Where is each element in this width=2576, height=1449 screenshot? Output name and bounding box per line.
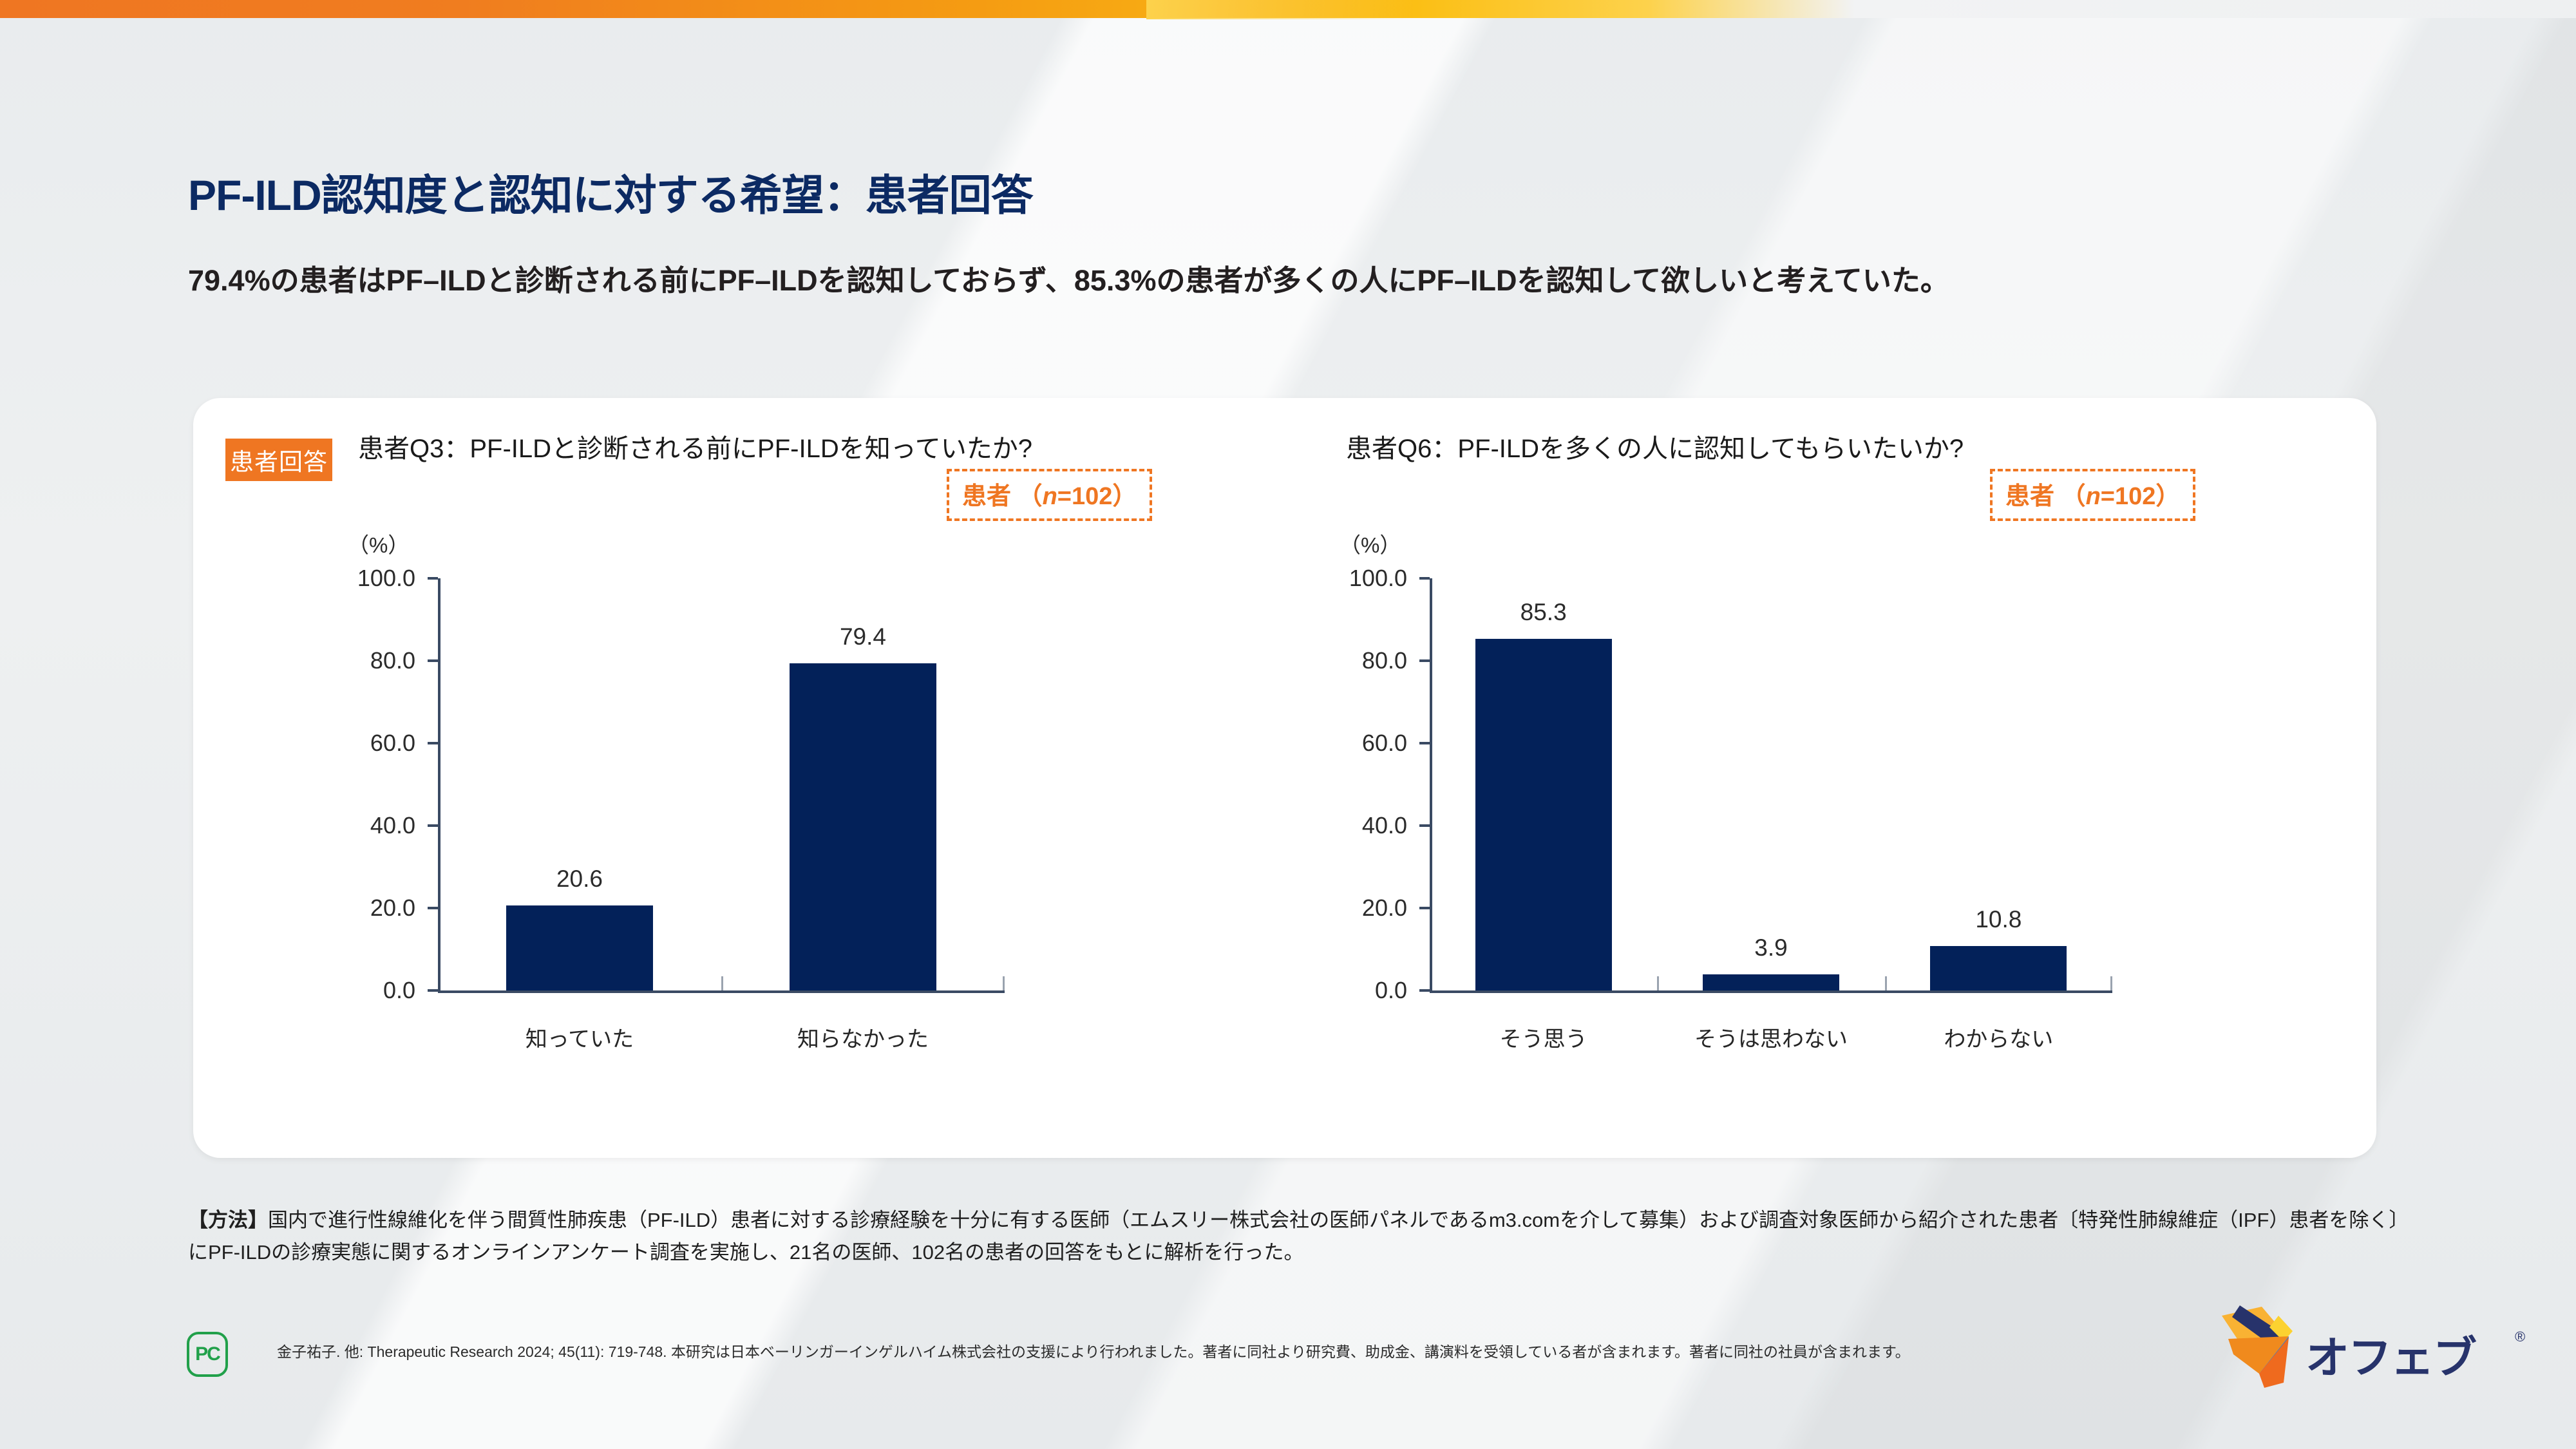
chart-q6: （%）100.080.060.040.020.00.085.3そう思う3.9そう…: [1236, 553, 2241, 1106]
bar-value-label: 79.4: [818, 623, 908, 650]
y-axis-tick-label: 20.0: [1301, 895, 1407, 922]
y-axis-unit-label: （%）: [348, 528, 409, 559]
pc-badge-icon: PC: [187, 1332, 228, 1377]
sample-size-box-left: 患者 （n=102）: [947, 469, 1152, 521]
y-axis-line: [1430, 578, 1432, 990]
x-axis-category-label: 知っていた: [438, 1021, 721, 1053]
y-axis-tick: [428, 577, 438, 580]
x-axis-end-tick: [1003, 976, 1005, 990]
ofev-logo-text: オフェブ: [2306, 1322, 2476, 1386]
y-axis-tick-label: 100.0: [1301, 565, 1407, 592]
ofev-registered-mark: ®: [2515, 1329, 2525, 1345]
y-axis-tick-label: 20.0: [309, 895, 415, 922]
x-axis-tick: [1657, 976, 1659, 990]
n-prefix-left: 患者 （: [962, 483, 1043, 510]
y-axis-tick-label: 100.0: [309, 565, 415, 592]
y-axis-tick: [1419, 824, 1430, 827]
y-axis-tick: [428, 824, 438, 827]
ofev-logo: オフェブ ®: [2222, 1304, 2544, 1401]
n-suffix-left: =102）: [1057, 483, 1137, 510]
y-axis-line: [438, 578, 440, 990]
bar: [1475, 639, 1612, 990]
bar-value-label: 20.6: [535, 866, 625, 893]
bar: [1703, 974, 1839, 990]
y-axis-tick-label: 80.0: [309, 647, 415, 674]
y-axis-unit-label: （%）: [1340, 528, 1401, 559]
y-axis-tick-label: 40.0: [1301, 812, 1407, 839]
y-axis-tick: [1419, 989, 1430, 992]
ofev-bird-icon: [2222, 1304, 2306, 1394]
n-italic-right: n: [2086, 483, 2101, 510]
y-axis-tick: [1419, 907, 1430, 909]
charts-card: 患者回答 患者Q3：PF-ILDと診断される前にPF-ILDを知っていたか? 患…: [193, 398, 2376, 1158]
x-axis-line: [1430, 990, 2112, 993]
y-axis-tick: [1419, 742, 1430, 744]
y-axis-tick-label: 60.0: [1301, 730, 1407, 757]
question-title-right: 患者Q6：PF-ILDを多くの人に認知してもらいたいか?: [1346, 431, 2248, 466]
bar-value-label: 85.3: [1499, 599, 1589, 626]
x-axis-category-label: 知らなかった: [721, 1021, 1005, 1053]
method-text: 国内で進行性線維化を伴う間質性肺疾患（PF-ILD）患者に対する診療経験を十分に…: [188, 1209, 2409, 1264]
x-axis-category-label: そう思う: [1430, 1021, 1657, 1053]
x-axis-tick: [1885, 976, 1887, 990]
bar: [506, 905, 654, 990]
sample-size-box-right: 患者 （n=102）: [1990, 469, 2195, 521]
page-subtitle: 79.4%の患者はPF–ILDと診断される前にPF–ILDを認知しておらず、85…: [188, 261, 2429, 301]
y-axis-tick-label: 60.0: [309, 730, 415, 757]
n-italic-left: n: [1043, 483, 1057, 510]
status-badge: 患者回答: [225, 439, 332, 481]
y-axis-tick: [1419, 577, 1430, 580]
x-axis-tick: [721, 976, 723, 990]
y-axis-tick: [428, 742, 438, 744]
y-axis-tick: [428, 659, 438, 662]
y-axis-tick-label: 0.0: [1301, 977, 1407, 1004]
citation-text: 金子祐子. 他: Therapeutic Research 2024; 45(1…: [277, 1341, 2177, 1362]
bar-value-label: 3.9: [1726, 934, 1816, 961]
method-label: 【方法】: [188, 1209, 268, 1231]
y-axis-tick-label: 40.0: [309, 812, 415, 839]
bar: [790, 663, 937, 990]
y-axis-tick-label: 80.0: [1301, 647, 1407, 674]
x-axis-end-tick: [2110, 976, 2112, 990]
x-axis-category-label: わからない: [1885, 1021, 2112, 1053]
n-prefix-right: 患者 （: [2005, 483, 2086, 510]
method-footnote: 【方法】国内で進行性線維化を伴う間質性肺疾患（PF-ILD）患者に対する診療経験…: [188, 1204, 2416, 1269]
x-axis-category-label: そうは思わない: [1657, 1021, 1884, 1053]
chart-q3: （%）100.080.060.040.020.00.020.6知っていた79.4…: [245, 553, 1146, 1106]
top-accent-curve: [1146, 0, 1726, 19]
question-title-left: 患者Q3：PF-ILDと診断される前にPF-ILDを知っていたか?: [358, 431, 1079, 466]
y-axis-tick: [428, 907, 438, 909]
y-axis-tick: [428, 989, 438, 992]
y-axis-tick-label: 0.0: [309, 977, 415, 1004]
n-suffix-right: =102）: [2101, 483, 2181, 510]
x-axis-line: [438, 990, 1005, 993]
y-axis-tick: [1419, 659, 1430, 662]
page-title: PF-ILD認知度と認知に対する希望：患者回答: [188, 161, 2249, 223]
bar: [1930, 946, 2067, 990]
bar-value-label: 10.8: [1953, 906, 2043, 933]
